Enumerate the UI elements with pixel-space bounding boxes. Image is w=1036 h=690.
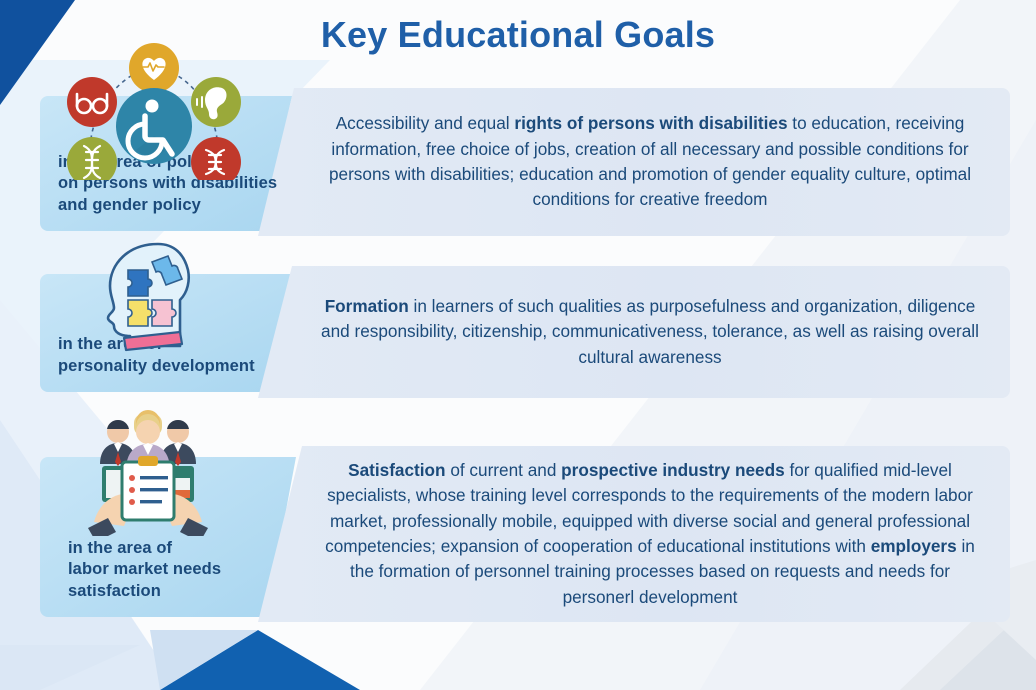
eyeglasses-vision-icon <box>67 77 117 127</box>
text-panel-labor: Satisfaction of current and prospective … <box>258 446 1010 622</box>
infographic-slide: Key Educational Goals in the area of pol… <box>0 0 1036 690</box>
goal-row-labor-market-needs: in the area of labor market needs satisf… <box>0 452 1036 617</box>
body-text-personality: Formation in learners of such qualities … <box>258 294 1010 370</box>
label-text-labor: in the area of labor market needs satisf… <box>68 538 221 603</box>
dna-helix-icon <box>67 137 117 180</box>
page-title: Key Educational Goals <box>0 14 1036 56</box>
business-team-clipboard-icon <box>84 410 212 536</box>
text-panel-personality: Formation in learners of such qualities … <box>258 266 1010 398</box>
body-text-labor: Satisfaction of current and prospective … <box>258 458 1010 611</box>
ear-hearing-icon <box>191 77 241 127</box>
goal-row-policy-disabilities-gender: in the area of policy on persons with di… <box>0 88 1036 228</box>
head-puzzle-icon <box>84 238 206 354</box>
wheelchair-accessibility-icon <box>116 88 192 164</box>
body-text-policy: Accessibility and equal rights of person… <box>258 111 1010 213</box>
disability-inclusion-icon-cluster <box>52 40 252 180</box>
goal-row-personality-development: in the area of personality development <box>0 272 1036 392</box>
spine-dna-icon <box>191 137 241 180</box>
text-panel-policy: Accessibility and equal rights of person… <box>258 88 1010 236</box>
page-title-text: Key Educational Goals <box>321 14 715 56</box>
